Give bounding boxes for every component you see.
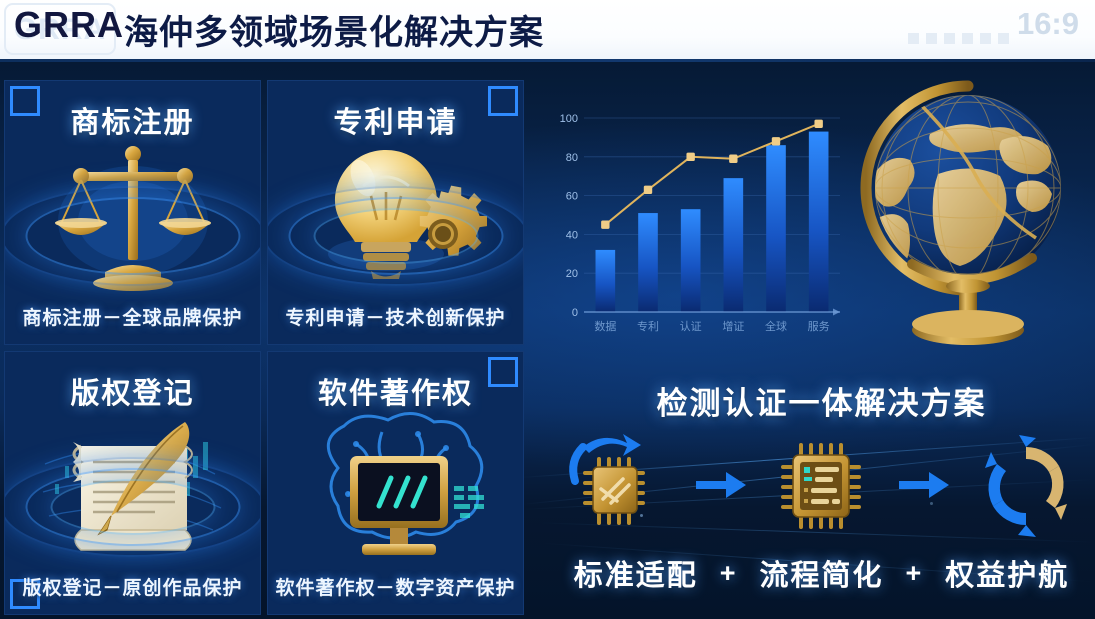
scroll-quill-icon: [5, 404, 260, 571]
benefit-label-2: 流程简化: [759, 552, 883, 594]
chart-y-tick-label: 100: [560, 113, 578, 125]
chart-y-tick-label: 60: [566, 191, 578, 203]
dot-icon: [908, 33, 919, 44]
dot-icon: [944, 33, 955, 44]
benefit-label-1: 标准适配: [574, 552, 698, 594]
chart-data-point: [601, 221, 609, 229]
chart-bar: [638, 213, 658, 312]
chart-x-tick-label: 数据: [594, 319, 616, 333]
slide-header: GRRA GRRA 海仲多领域场景化解决方案 16:9: [0, 0, 1095, 62]
chart-x-tick-label: 增证: [722, 319, 744, 333]
card-software-copyright[interactable]: 软件著作权: [267, 351, 524, 616]
separator-plus-2: +: [906, 558, 924, 589]
brain-monitor-icon: [268, 404, 523, 571]
decorative-dots: [908, 33, 1009, 44]
chart-y-tick-label: 40: [566, 229, 578, 241]
globe-icon: [852, 78, 1092, 363]
chart-y-tick-label: 20: [566, 268, 578, 280]
chart-bar: [809, 132, 829, 312]
slide-canvas: GRRA GRRA 海仲多领域场景化解决方案 16:9 商标注册: [0, 0, 1095, 619]
dot-icon: [926, 33, 937, 44]
chart-y-tick-label: 0: [572, 307, 578, 319]
certification-flow: [560, 430, 1085, 540]
chart-bar: [596, 250, 616, 312]
benefit-label-3: 权益护航: [945, 552, 1069, 594]
chart-data-point: [729, 155, 737, 163]
dot-icon: [980, 33, 991, 44]
card-subtitle: 专利申请－技术创新保护: [268, 303, 523, 330]
aspect-ratio-badge: 16:9: [1017, 6, 1079, 42]
lightbulb-gear-icon: [268, 133, 523, 300]
chart-trend-line: [605, 124, 818, 225]
card-subtitle: 版权登记－原创作品保护: [5, 573, 260, 600]
section-title: 检测认证一体解决方案: [548, 378, 1095, 423]
chart-x-tick-label: 全球: [765, 319, 787, 333]
card-subtitle: 软件著作权－数字资产保护: [268, 573, 523, 600]
chip-process-icon[interactable]: [764, 430, 882, 540]
chart-x-tick-label: 服务: [808, 320, 830, 333]
chart-bar: [766, 145, 786, 312]
card-copyright-registration[interactable]: 版权登记: [4, 351, 261, 616]
chart-y-tick-label: 80: [566, 152, 578, 164]
chart-data-point: [814, 120, 822, 128]
chart-bar: [724, 178, 744, 312]
growth-bar-chart: 020406080100 数据专利认证增证全球服务: [548, 100, 848, 350]
arrow-right-icon: [895, 472, 953, 498]
card-patent-application[interactable]: 专利申请: [267, 80, 524, 345]
arrow-right-icon: [692, 472, 750, 498]
balance-scales-icon: [5, 133, 260, 300]
benefit-labels: 标准适配 + 流程简化 + 权益护航: [548, 552, 1095, 594]
card-subtitle: 商标注册－全球品牌保护: [5, 303, 260, 330]
chart-x-tick-label: 专利: [637, 319, 659, 333]
brand-logo: GRRA: [14, 4, 124, 46]
solution-card-grid: 商标注册: [4, 80, 524, 615]
chart-data-point: [772, 137, 780, 145]
dot-icon: [962, 33, 973, 44]
chip-standard-icon[interactable]: [560, 430, 678, 540]
chart-bar: [681, 209, 701, 312]
card-trademark-registration[interactable]: 商标注册: [4, 80, 261, 345]
dot-icon: [998, 33, 1009, 44]
cycle-refresh-icon[interactable]: [967, 430, 1085, 540]
page-title: 海仲多领域场景化解决方案: [124, 5, 544, 54]
separator-plus: +: [720, 558, 738, 589]
chart-data-point: [686, 153, 694, 161]
chart-x-tick-label: 认证: [680, 320, 702, 333]
chart-data-point: [644, 186, 652, 194]
